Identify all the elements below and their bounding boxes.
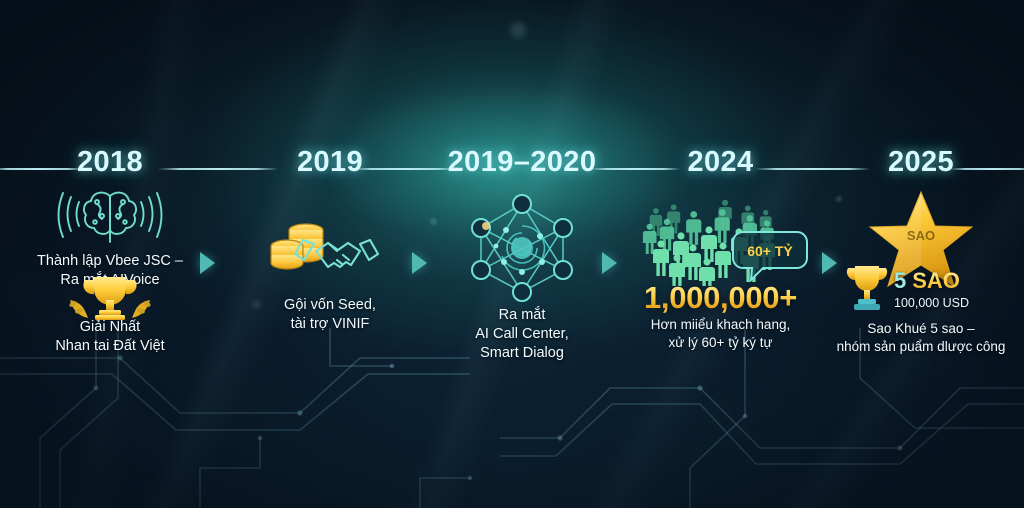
milestone-description: Sao Khué 5 sao – nhóm sản puẩm dlược côn… bbox=[818, 320, 1024, 356]
brain-voice-icon bbox=[10, 184, 210, 246]
bokeh-spark bbox=[510, 22, 526, 38]
star-label: SAO bbox=[907, 228, 935, 243]
milestone-description: Gội vốn Seed, tài trợ VINIF bbox=[240, 296, 420, 334]
trophy-laurel-icon bbox=[10, 272, 210, 322]
infographic-canvas: 2018 Thành lập Vbee JSC – Ra mắ bbox=[0, 0, 1024, 508]
trophy-icon bbox=[844, 262, 890, 321]
milestone-year-label: 2024 bbox=[618, 146, 823, 179]
network-nodes-icon bbox=[432, 192, 612, 304]
milestone-headline: 1,000,000+ bbox=[618, 280, 823, 316]
award-amount: 100,000 USD bbox=[894, 296, 969, 310]
milestone-secondary-description: Giải Nhất Nhan tai Đất Việt bbox=[10, 318, 210, 356]
milestone-description: Ra mắt AI Call Center, Smart Dialog bbox=[432, 306, 612, 363]
timeline-arrow-2 bbox=[412, 252, 427, 274]
milestone-description: Hơn miiểu khach hang, xử lý 60+ tỷ ký tự bbox=[618, 316, 823, 352]
coins-handshake-icon bbox=[240, 218, 420, 280]
milestone-year-label: 2019 bbox=[240, 146, 420, 179]
timeline-arrow-1 bbox=[200, 252, 215, 274]
award-title: 5 SAO bbox=[894, 268, 969, 294]
award-number: 5 bbox=[894, 268, 906, 294]
milestone-year-label: 2018 bbox=[10, 146, 210, 179]
bubble-label: 60+ TỶ bbox=[747, 243, 793, 259]
statistic-bubble: 60+ TỶ bbox=[731, 230, 809, 287]
milestone-year-label: 2025 bbox=[818, 146, 1024, 179]
timeline-arrow-3 bbox=[602, 252, 617, 274]
award-word: SAO bbox=[912, 268, 960, 294]
milestone-year-label: 2019–2020 bbox=[432, 146, 612, 179]
award-block: 5 SAO 100,000 USD bbox=[844, 262, 969, 321]
